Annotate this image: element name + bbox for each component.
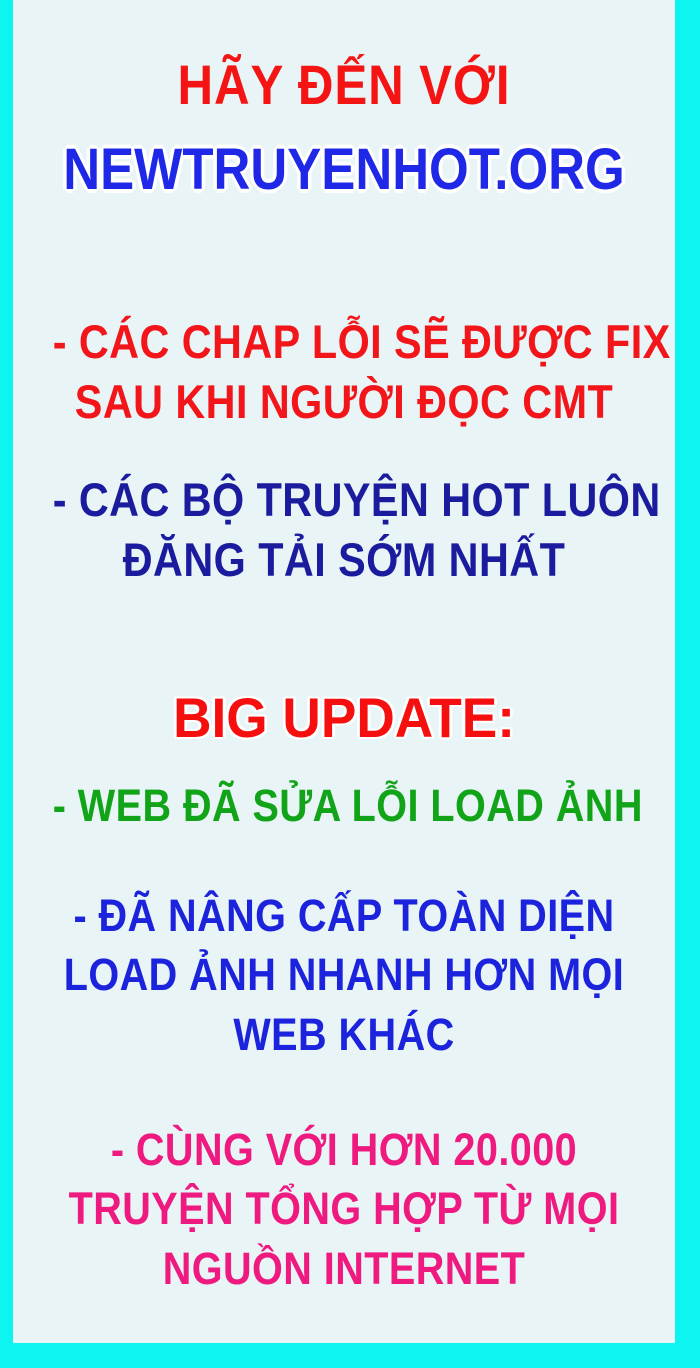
notice-fix-line-1: - CÁC CHAP LỖI SẼ ĐƯỢC FIX xyxy=(53,312,636,372)
update-item-image-load-fix-line-1: - WEB ĐÃ SỬA LỖI LOAD ẢNH xyxy=(53,782,636,830)
update-item-story-count: - CÙNG VỚI HƠN 20.000 TRUYỆN TỔNG HỢP TỪ… xyxy=(53,1120,636,1298)
update-item-image-load-fix: - WEB ĐÃ SỬA LỖI LOAD ẢNH xyxy=(53,782,636,830)
notice-hot-line-2: ĐĂNG TẢI SỚM NHẤT xyxy=(53,530,636,590)
update-item-story-count-line-2: TRUYỆN TỔNG HỢP TỪ MỌI xyxy=(53,1179,636,1238)
headline-invite: HÃY ĐẾN VỚI xyxy=(53,55,636,114)
notice-fix: - CÁC CHAP LỖI SẼ ĐƯỢC FIX SAU KHI NGƯỜI… xyxy=(53,312,636,432)
notice-hot: - CÁC BỘ TRUYỆN HOT LUÔN ĐĂNG TẢI SỚM NH… xyxy=(53,470,636,590)
update-item-full-upgrade-line-3: WEB KHÁC xyxy=(53,1005,636,1064)
big-update-title: BIG UPDATE: xyxy=(30,688,659,747)
big-update-title-text: BIG UPDATE: xyxy=(30,688,659,747)
update-item-full-upgrade-line-2: LOAD ẢNH NHANH HƠN MỌI xyxy=(53,945,636,1004)
update-item-story-count-line-1: - CÙNG VỚI HƠN 20.000 xyxy=(53,1120,636,1179)
notice-hot-line-1: - CÁC BỘ TRUYỆN HOT LUÔN xyxy=(53,470,636,530)
site-url[interactable]: NEWTRUYENHOT.ORG xyxy=(53,139,636,200)
update-item-full-upgrade-line-1: - ĐÃ NÂNG CẤP TOÀN DIỆN xyxy=(53,886,636,945)
notice-fix-line-2: SAU KHI NGƯỜI ĐỌC CMT xyxy=(53,372,636,432)
poster-panel: HÃY ĐẾN VỚI NEWTRUYENHOT.ORG - CÁC CHAP … xyxy=(13,0,675,1343)
update-item-story-count-line-3: NGUỒN INTERNET xyxy=(53,1239,636,1298)
headline-invite-line: HÃY ĐẾN VỚI xyxy=(53,55,636,114)
promo-poster: HÃY ĐẾN VỚI NEWTRUYENHOT.ORG - CÁC CHAP … xyxy=(0,0,700,1368)
site-url-text: NEWTRUYENHOT.ORG xyxy=(53,139,636,200)
update-item-full-upgrade: - ĐÃ NÂNG CẤP TOÀN DIỆN LOAD ẢNH NHANH H… xyxy=(53,886,636,1064)
